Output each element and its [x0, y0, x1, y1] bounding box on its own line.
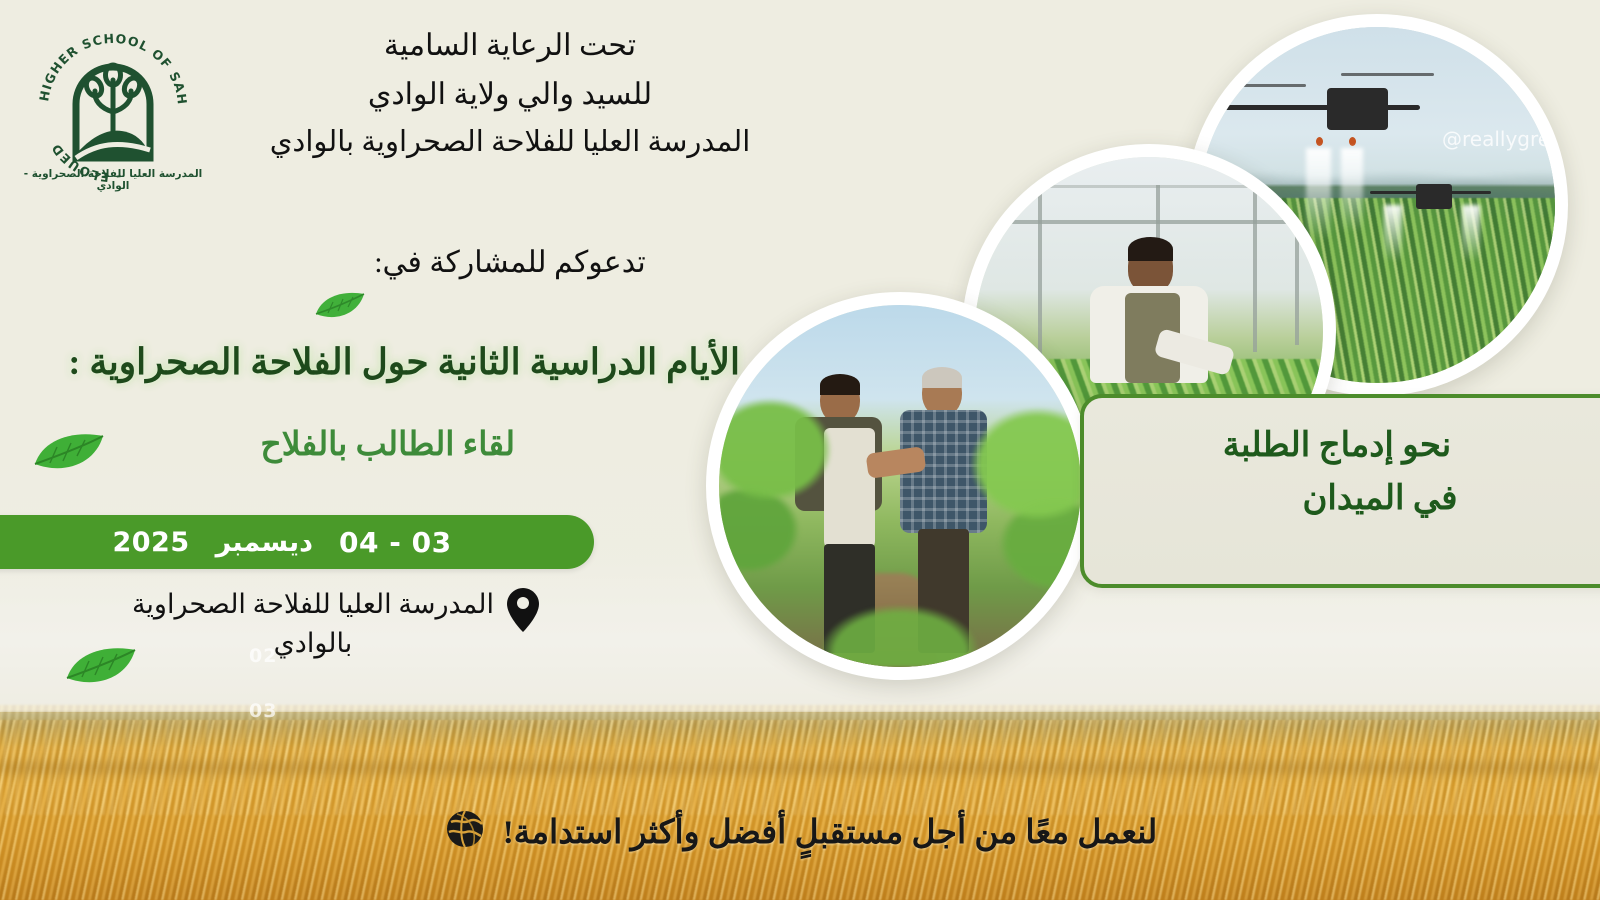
photo-vineyard-farmers: [706, 292, 1094, 680]
header-line-3: المدرسة العليا للفلاحة الصحراوية بالوادي: [250, 119, 770, 166]
theme-panel-text: نحو إدماج الطلبة في الميدان: [1090, 420, 1600, 525]
vine-foliage: [719, 305, 1081, 667]
invitation-text: تدعوكم للمشاركة في:: [250, 245, 770, 280]
photo-vineyard-scene: [719, 305, 1081, 667]
globe-earth-icon: [443, 806, 487, 857]
page-subtitle: لقاء الطالب بالفلاح: [55, 425, 515, 466]
svg-text:HIGHER SCHOOL OF SAHARAN AGRIC: HIGHER SCHOOL OF SAHARAN AGRICULTURE: [18, 8, 190, 106]
drone-rotor: [1341, 73, 1434, 76]
image-watermark: @reallygreatsite: [1442, 127, 1568, 151]
date-month: ديسمبر: [216, 527, 313, 558]
worker-hair: [1128, 237, 1173, 261]
drone-core: [1327, 88, 1388, 131]
header-line-2: للسيد والي ولاية الوادي: [250, 71, 770, 120]
drone-nozzle: [1316, 137, 1323, 146]
spray-mist: [1462, 205, 1480, 262]
location-line-1: المدرسة العليا للفلاحة الصحراوية: [132, 589, 494, 619]
greenhouse-post: [1295, 199, 1299, 345]
greenhouse-post: [1253, 192, 1257, 352]
greenhouse-beam: [975, 220, 1323, 224]
theme-line-2: في الميدان: [1090, 473, 1600, 526]
map-pin-icon: [506, 587, 540, 638]
drone-nozzle: [1349, 137, 1356, 146]
header-text-block: تحت الرعاية السامية للسيد والي ولاية الو…: [250, 22, 770, 166]
page-title: الأيام الدراسية الثانية حول الفلاحة الصح…: [40, 340, 740, 385]
leaf-icon: [312, 288, 368, 329]
drone-arm: [1220, 105, 1419, 110]
logo-subtitle-arabic: المدرسة العليا للفلاحة الصحراوية - الواد…: [18, 168, 208, 192]
date-year: 2025: [112, 527, 189, 558]
slogan-block: لنعمل معًا من أجل مستقبلٍ أفضل وأكثر است…: [0, 806, 1600, 857]
drone-rotor: [1227, 84, 1305, 87]
greenhouse-beam: [975, 185, 1323, 188]
spray-mist: [1384, 205, 1402, 262]
date-days: 03 - 04: [339, 526, 452, 559]
location-block: المدرسة العليا للفلاحة الصحراوية بالوادي: [120, 585, 540, 663]
location-text: المدرسة العليا للفلاحة الصحراوية بالوادي: [132, 585, 494, 663]
field-shadow-band: [0, 756, 1600, 780]
slogan-text: لنعمل معًا من أجل مستقبلٍ أفضل وأكثر است…: [503, 812, 1158, 852]
theme-line-1: نحو إدماج الطلبة: [1090, 420, 1600, 473]
event-poster: HIGHER SCHOOL OF SAHARAN AGRICULTURE - E…: [0, 0, 1600, 900]
drone-core: [1416, 184, 1452, 209]
spray-mist: [1341, 148, 1362, 233]
date-band: 03 - 04 ديسمبر 2025: [0, 515, 594, 569]
watermark-number-02: 02: [249, 645, 277, 667]
location-line-2: بالوادي: [274, 628, 353, 658]
header-line-1: تحت الرعاية السامية: [250, 22, 770, 71]
watermark-number-03: 03: [249, 700, 277, 722]
